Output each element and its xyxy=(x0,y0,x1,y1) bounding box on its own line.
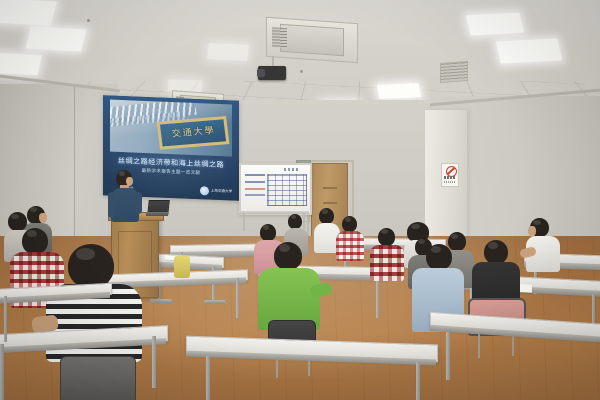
plaque-char: 大 xyxy=(193,127,203,137)
sign-label-en xyxy=(444,181,456,183)
student-face xyxy=(39,213,47,223)
logo-label: 上海交通大学 xyxy=(211,189,233,195)
student-plaid-shirt xyxy=(336,216,364,260)
whiteboard-leg xyxy=(243,213,245,231)
ceiling-vent xyxy=(440,61,468,83)
ceiling-light xyxy=(377,83,421,98)
whiteboard-table-caption xyxy=(284,168,298,171)
desk-leg xyxy=(152,336,156,388)
student-head xyxy=(378,228,395,246)
sign-label-cn xyxy=(444,176,456,179)
presenter-arm xyxy=(108,192,115,218)
student-torso xyxy=(336,231,364,261)
logo-mark-icon xyxy=(200,186,209,195)
slide-photo: 交 通 大 學 xyxy=(110,100,232,157)
presenter-arm xyxy=(135,192,142,214)
bag-on-chair xyxy=(174,256,190,278)
desk-leg xyxy=(376,276,379,318)
wall-seam xyxy=(74,84,75,254)
desk-leg xyxy=(236,278,239,318)
whiteboard xyxy=(239,163,312,215)
ac-cassette-unit xyxy=(266,17,358,63)
desk-leg xyxy=(0,344,4,400)
plaque-char: 交 xyxy=(171,129,181,139)
gate-plaque: 交 通 大 學 xyxy=(156,116,229,149)
ac-grille xyxy=(280,24,345,56)
ceiling-light xyxy=(496,38,562,63)
plaque-char: 學 xyxy=(204,126,214,136)
whiteboard-table xyxy=(267,174,307,206)
student-head xyxy=(342,216,357,232)
student-torso xyxy=(370,245,404,281)
desk-foot xyxy=(204,300,226,304)
student-head xyxy=(22,228,48,254)
desk-leg xyxy=(4,296,7,342)
student-head xyxy=(426,244,452,270)
desk-leg xyxy=(446,332,450,380)
whiteboard-notes xyxy=(245,171,265,201)
student-head xyxy=(260,224,276,241)
university-logo: 上海交通大学 xyxy=(200,186,233,196)
student-head xyxy=(319,208,334,224)
chair-back xyxy=(60,356,136,400)
projector xyxy=(258,66,286,80)
desk-foot xyxy=(150,299,172,303)
sprinkler-head xyxy=(300,70,303,73)
ceiling-light xyxy=(0,0,57,26)
plaque-char: 通 xyxy=(182,128,192,138)
ceiling-light xyxy=(207,43,249,60)
student-red-plaid-shirt xyxy=(370,228,404,278)
ac-vent xyxy=(272,27,286,48)
chair[interactable] xyxy=(60,356,134,400)
ceiling-light xyxy=(466,13,524,36)
student-head xyxy=(288,214,302,229)
student-head xyxy=(274,242,302,270)
classroom-photo: 交 通 大 學 丝绸之路经济带和海上丝绸之路 最新学术报告主题一览文献 2014… xyxy=(0,0,600,400)
laptop-keyboard xyxy=(146,212,168,216)
sprinkler-head xyxy=(87,19,90,22)
desk-leg xyxy=(416,362,420,400)
ceiling-light xyxy=(0,53,42,76)
student-head xyxy=(484,240,508,264)
student-head xyxy=(68,244,114,288)
student-phone-user xyxy=(520,218,560,276)
presenter xyxy=(108,170,144,230)
desk-leg xyxy=(206,356,210,400)
no-smoking-sign xyxy=(441,163,459,187)
laptop[interactable] xyxy=(146,200,168,216)
ceiling-light xyxy=(26,27,87,52)
